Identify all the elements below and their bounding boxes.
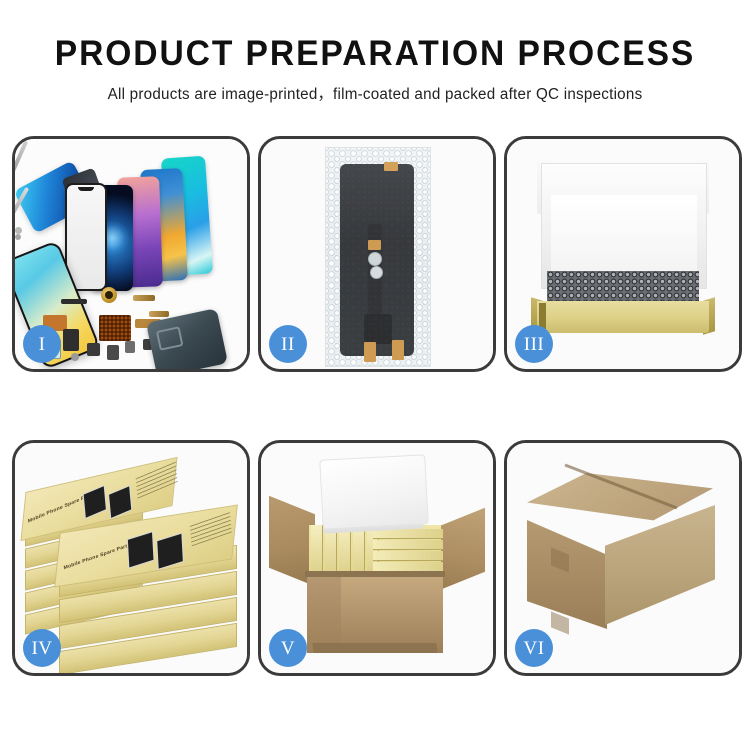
notch-icon xyxy=(78,187,94,191)
product-preparation-infographic: PRODUCT PREPARATION PROCESS All products… xyxy=(0,0,750,750)
process-step-6: VI xyxy=(504,440,742,676)
white-foam-board xyxy=(319,454,429,529)
box-inner-surface xyxy=(551,195,697,271)
box-print-spec-lines-front xyxy=(190,511,232,546)
screen-connector xyxy=(364,314,392,344)
carton-body-left xyxy=(307,577,341,653)
yellow-box-slat-1 xyxy=(311,525,323,575)
kraft-tape-bottom-right xyxy=(392,340,404,360)
tweezers-icon xyxy=(15,140,28,184)
yellow-box-row-1 xyxy=(373,529,443,539)
bubble-wrap-bag xyxy=(325,147,431,367)
process-step-2: II xyxy=(258,136,496,372)
phone-back-housing xyxy=(146,308,228,369)
step-badge-1: I xyxy=(23,325,61,363)
step-badge-3: III xyxy=(515,325,553,363)
process-step-4: Mobile Phone Spare Parts Mobile Phone Sp… xyxy=(12,440,250,676)
step-badge-2: II xyxy=(269,325,307,363)
carton-bottom-edge xyxy=(312,643,437,653)
yellow-box-slat-4 xyxy=(353,525,365,575)
sealed-carton-right-face xyxy=(605,505,715,625)
page-subtitle: All products are image-printed，film-coat… xyxy=(8,82,743,104)
process-step-5: V xyxy=(258,440,496,676)
page-title: PRODUCT PREPARATION PROCESS xyxy=(15,36,735,73)
flex-cable-2 xyxy=(63,329,79,351)
step-badge-6: VI xyxy=(515,629,553,667)
step-badge-5: V xyxy=(269,629,307,667)
process-step-3: III xyxy=(504,136,742,372)
bubble-highlight-1 xyxy=(368,252,382,266)
yellow-kraft-base xyxy=(537,301,709,333)
bubble-highlight-2 xyxy=(370,266,383,279)
box-print-thumb-2 xyxy=(108,485,132,519)
kraft-tape-mid xyxy=(368,240,381,250)
packing-tape-lower xyxy=(551,611,569,634)
box-print-thumb-1 xyxy=(83,485,107,519)
screw-part xyxy=(71,353,79,361)
box-print-spec-lines-upper xyxy=(136,461,178,499)
yellow-box-row-3 xyxy=(373,551,443,561)
header: PRODUCT PREPARATION PROCESS All products… xyxy=(0,0,750,104)
speaker-part-icon xyxy=(101,287,117,303)
kraft-tape-bottom-left xyxy=(364,342,376,362)
kraft-tape-top xyxy=(384,162,398,171)
screw-part-3 xyxy=(15,234,21,240)
stacked-boxes: Mobile Phone Spare Parts Mobile Phone Sp… xyxy=(21,455,241,661)
box-print-label-front: Mobile Phone Spare Parts xyxy=(63,542,130,571)
box-print-thumb-3 xyxy=(127,531,155,569)
screw-part-2 xyxy=(15,227,22,234)
yellow-boxes-horizontal xyxy=(373,527,443,575)
box-print-thumb-4 xyxy=(156,532,184,570)
carton-flap-right xyxy=(439,508,485,591)
earpiece-part xyxy=(61,299,87,304)
chip-part-1 xyxy=(87,343,100,356)
yellow-box-row-2 xyxy=(373,540,443,550)
chip-part-2 xyxy=(107,345,119,360)
bubble-wrapped-units xyxy=(547,271,699,303)
process-steps-grid: I II xyxy=(12,136,738,676)
chip-part-3 xyxy=(125,341,135,353)
copper-mesh-part xyxy=(99,315,131,341)
flex-strip-2 xyxy=(149,311,169,317)
flex-strip-1 xyxy=(133,295,155,301)
process-step-1: I xyxy=(12,136,250,372)
step-badge-4: IV xyxy=(23,629,61,667)
